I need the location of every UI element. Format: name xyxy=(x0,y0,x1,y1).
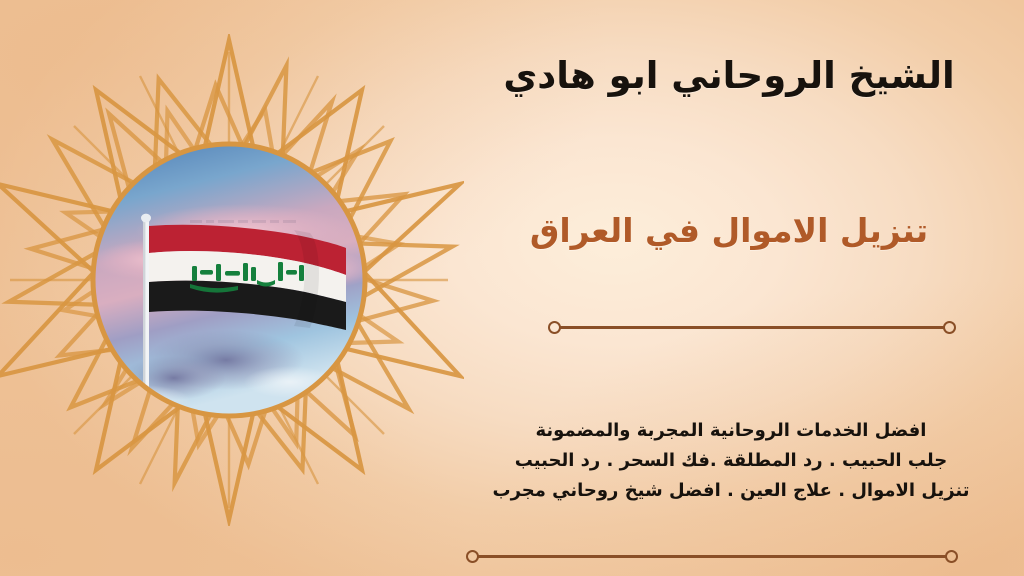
promo-banner: الشيخ الروحاني ابو هادي تنزيل الاموال في… xyxy=(0,0,1024,576)
tagline-line-3: تنزيل الاموال . علاج العين . افضل شيخ رو… xyxy=(452,476,1010,506)
divider-ring-start-icon xyxy=(943,321,956,334)
divider-ring-start-icon xyxy=(945,550,958,563)
divider-ring-end-icon xyxy=(466,550,479,563)
divider-top xyxy=(548,319,956,335)
divider-ring-end-icon xyxy=(548,321,561,334)
service-headline: تنزيل الاموال في العراق xyxy=(452,210,1006,251)
divider-bar xyxy=(478,555,946,558)
divider-bottom xyxy=(466,548,958,564)
page-title: الشيخ الروحاني ابو هادي xyxy=(452,52,1006,99)
tagline-line-2: جلب الحبيب . رد المطلقة .فك السحر . رد ا… xyxy=(452,446,1010,476)
content-column: الشيخ الروحاني ابو هادي تنزيل الاموال في… xyxy=(452,0,1024,576)
divider-bar xyxy=(560,326,944,329)
services-tagline: افضل الخدمات الروحانية المجربة والمضمونة… xyxy=(452,416,1010,506)
tagline-line-1: افضل الخدمات الروحانية المجربة والمضمونة xyxy=(452,416,1010,446)
emblem-medallion xyxy=(0,34,464,526)
